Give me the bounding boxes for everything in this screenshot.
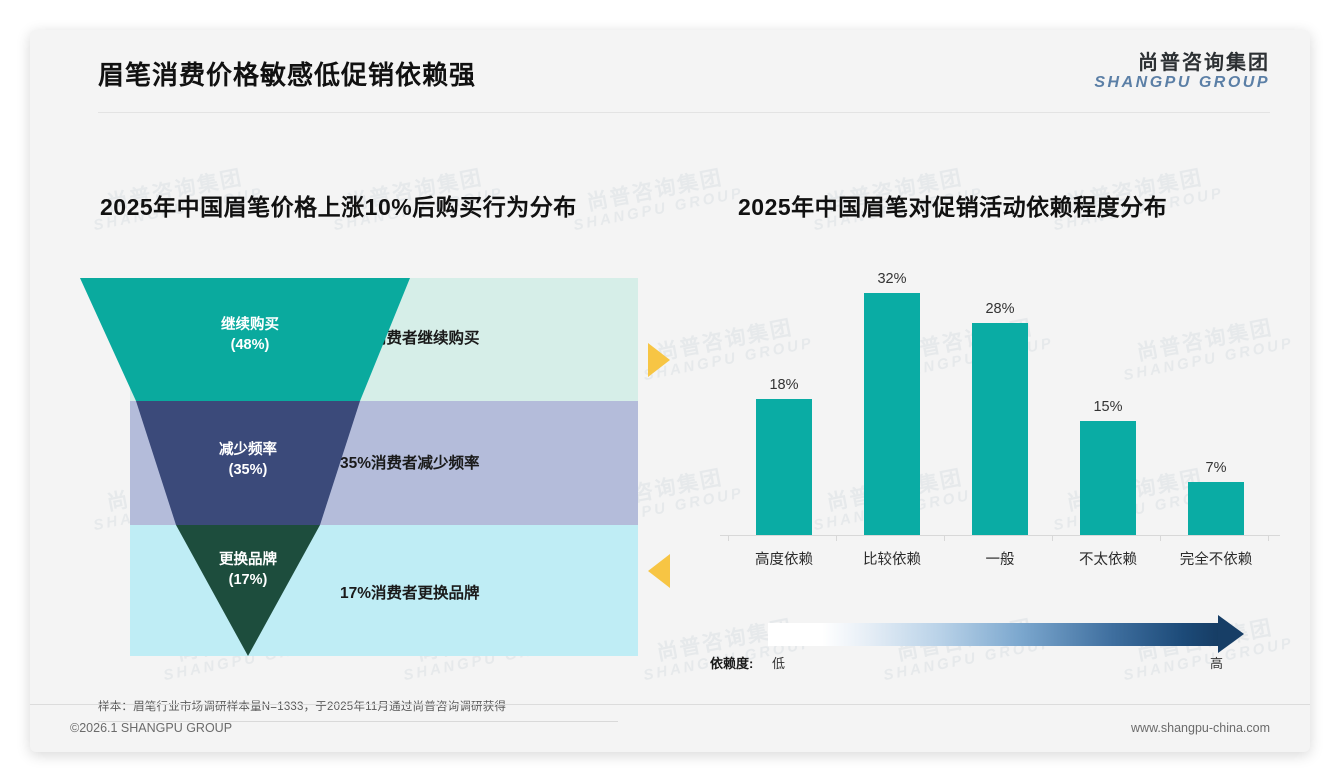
bar-column[interactable]: 28% <box>944 270 1056 535</box>
funnel-tier-3-value: (17%) <box>229 572 268 588</box>
funnel-tier-2-value: (35%) <box>229 462 268 478</box>
copyright-text: ©2026.1 SHANGPU GROUP <box>70 721 232 735</box>
axis-tick <box>728 535 729 541</box>
bar-category-label: 完全不依赖 <box>1160 548 1272 569</box>
legend-high-label: 高 <box>1210 653 1223 672</box>
bar-value-label: 7% <box>1206 460 1227 476</box>
slide-card: 尚普咨询集团SHANGPU GROUP尚普咨询集团SHANGPU GROUP尚普… <box>30 30 1310 752</box>
legend-caption: 依赖度: <box>710 653 753 672</box>
title-divider <box>98 112 1270 113</box>
slide-footer: ©2026.1 SHANGPU GROUP www.shangpu-china.… <box>30 704 1310 752</box>
triangle-right-icon <box>648 343 670 377</box>
funnel-tier-3-shape <box>176 525 320 656</box>
axis-tick <box>836 535 837 541</box>
funnel-tier-2-name: 减少频率 <box>219 442 277 458</box>
funnel-tier-label-3: 更换品牌 (17%) <box>173 551 323 590</box>
bar-column[interactable]: 18% <box>728 270 840 535</box>
bar-category-label: 高度依赖 <box>728 548 840 569</box>
axis-tick <box>1052 535 1053 541</box>
axis-tick <box>1160 535 1161 541</box>
funnel-tier-label-2: 减少频率 (35%) <box>173 441 323 480</box>
bar-rect[interactable] <box>864 293 920 535</box>
bar-axis-line <box>720 535 1280 536</box>
dependency-gradient-legend: 依赖度: 低 高 <box>710 615 1280 685</box>
funnel-panel-title: 2025年中国眉笔价格上涨10%后购买行为分布 <box>100 188 577 222</box>
brand-name-en: SHANGPU GROUP <box>1094 74 1270 92</box>
triangle-left-icon <box>648 554 670 588</box>
bar-column[interactable]: 15% <box>1052 270 1164 535</box>
funnel-tier-1-name: 继续购买 <box>221 317 279 333</box>
brand-name-cn: 尚普咨询集团 <box>1094 52 1270 74</box>
bar-value-label: 18% <box>769 377 798 393</box>
gradient-bar <box>768 623 1220 646</box>
website-link[interactable]: www.shangpu-china.com <box>1131 721 1270 735</box>
funnel-panel: 2025年中国眉笔价格上涨10%后购买行为分布 48%消费者继续购买 35%消费… <box>70 140 670 700</box>
funnel-tier-label-1: 继续购买 (48%) <box>175 316 325 355</box>
bar-category-label: 一般 <box>944 548 1056 569</box>
bar-rect[interactable] <box>756 399 812 535</box>
axis-tick <box>944 535 945 541</box>
bar-plot-area: 18% 32% 28% 15% 7% <box>720 270 1280 535</box>
bar-value-label: 32% <box>877 271 906 287</box>
bar-chart: 18% 32% 28% 15% 7% <box>720 270 1280 580</box>
bar-value-label: 15% <box>1093 399 1122 415</box>
legend-low-label: 低 <box>772 653 785 672</box>
bar-column[interactable]: 7% <box>1160 270 1272 535</box>
page-title: 眉笔消费价格敏感低促销依赖强 <box>98 55 476 92</box>
arrow-right-icon <box>1218 615 1244 653</box>
bar-category-label: 比较依赖 <box>836 548 948 569</box>
bar-rect[interactable] <box>1188 482 1244 535</box>
slide-header: 眉笔消费价格敏感低促销依赖强 尚普咨询集团 SHANGPU GROUP <box>30 30 1310 120</box>
funnel-chart: 48%消费者继续购买 35%消费者减少频率 17%消费者更换品牌 继续购买 (4… <box>70 278 670 673</box>
funnel-shape <box>70 278 670 673</box>
funnel-tier-3-name: 更换品牌 <box>219 552 277 568</box>
bar-rect[interactable] <box>972 323 1028 535</box>
bar-column[interactable]: 32% <box>836 270 948 535</box>
bar-rect[interactable] <box>1080 421 1136 535</box>
bar-panel: 2025年中国眉笔对促销活动依赖程度分布 18% 32% 28% 15% <box>710 140 1280 700</box>
bar-value-label: 28% <box>985 301 1014 317</box>
bar-panel-title: 2025年中国眉笔对促销活动依赖程度分布 <box>738 188 1167 222</box>
funnel-tier-1-value: (48%) <box>231 337 270 353</box>
bar-category-label: 不太依赖 <box>1052 548 1164 569</box>
axis-tick <box>1268 535 1269 541</box>
brand-logo: 尚普咨询集团 SHANGPU GROUP <box>1094 52 1270 92</box>
